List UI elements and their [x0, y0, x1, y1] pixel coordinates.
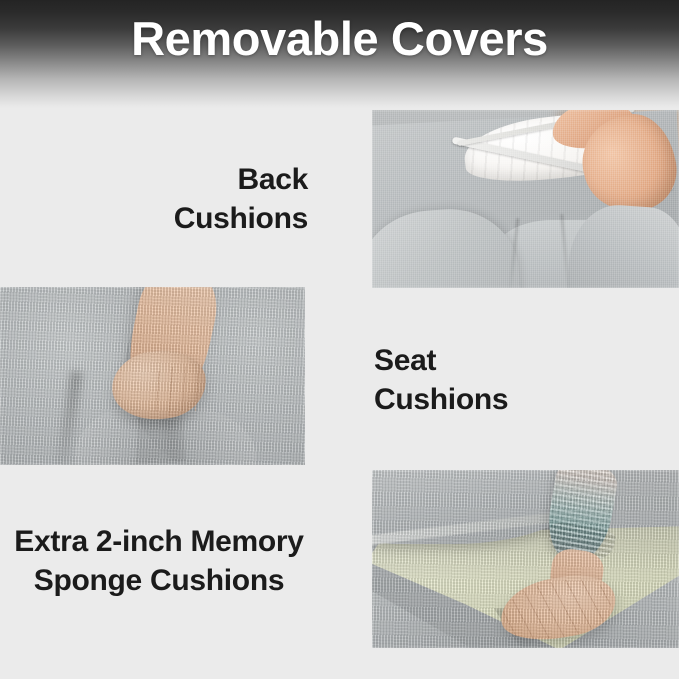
header-banner: Removable Covers	[0, 0, 679, 108]
photo-fist-press-cushion	[0, 287, 305, 465]
fabric-texture-overlay	[0, 287, 305, 465]
caption-memory-sponge-cushions: Extra 2-inch Memory Sponge Cushions	[0, 522, 318, 600]
caption-seat-cushions: Seat Cushions	[374, 341, 664, 419]
page-title: Removable Covers	[0, 14, 679, 63]
fabric-texture-overlay	[372, 110, 679, 288]
fabric-texture-overlay	[372, 470, 679, 648]
photo-memory-foam-layer	[372, 470, 679, 648]
caption-back-cushions: Back Cushions	[25, 160, 308, 238]
photo-back-cushion-zipper	[372, 110, 679, 288]
